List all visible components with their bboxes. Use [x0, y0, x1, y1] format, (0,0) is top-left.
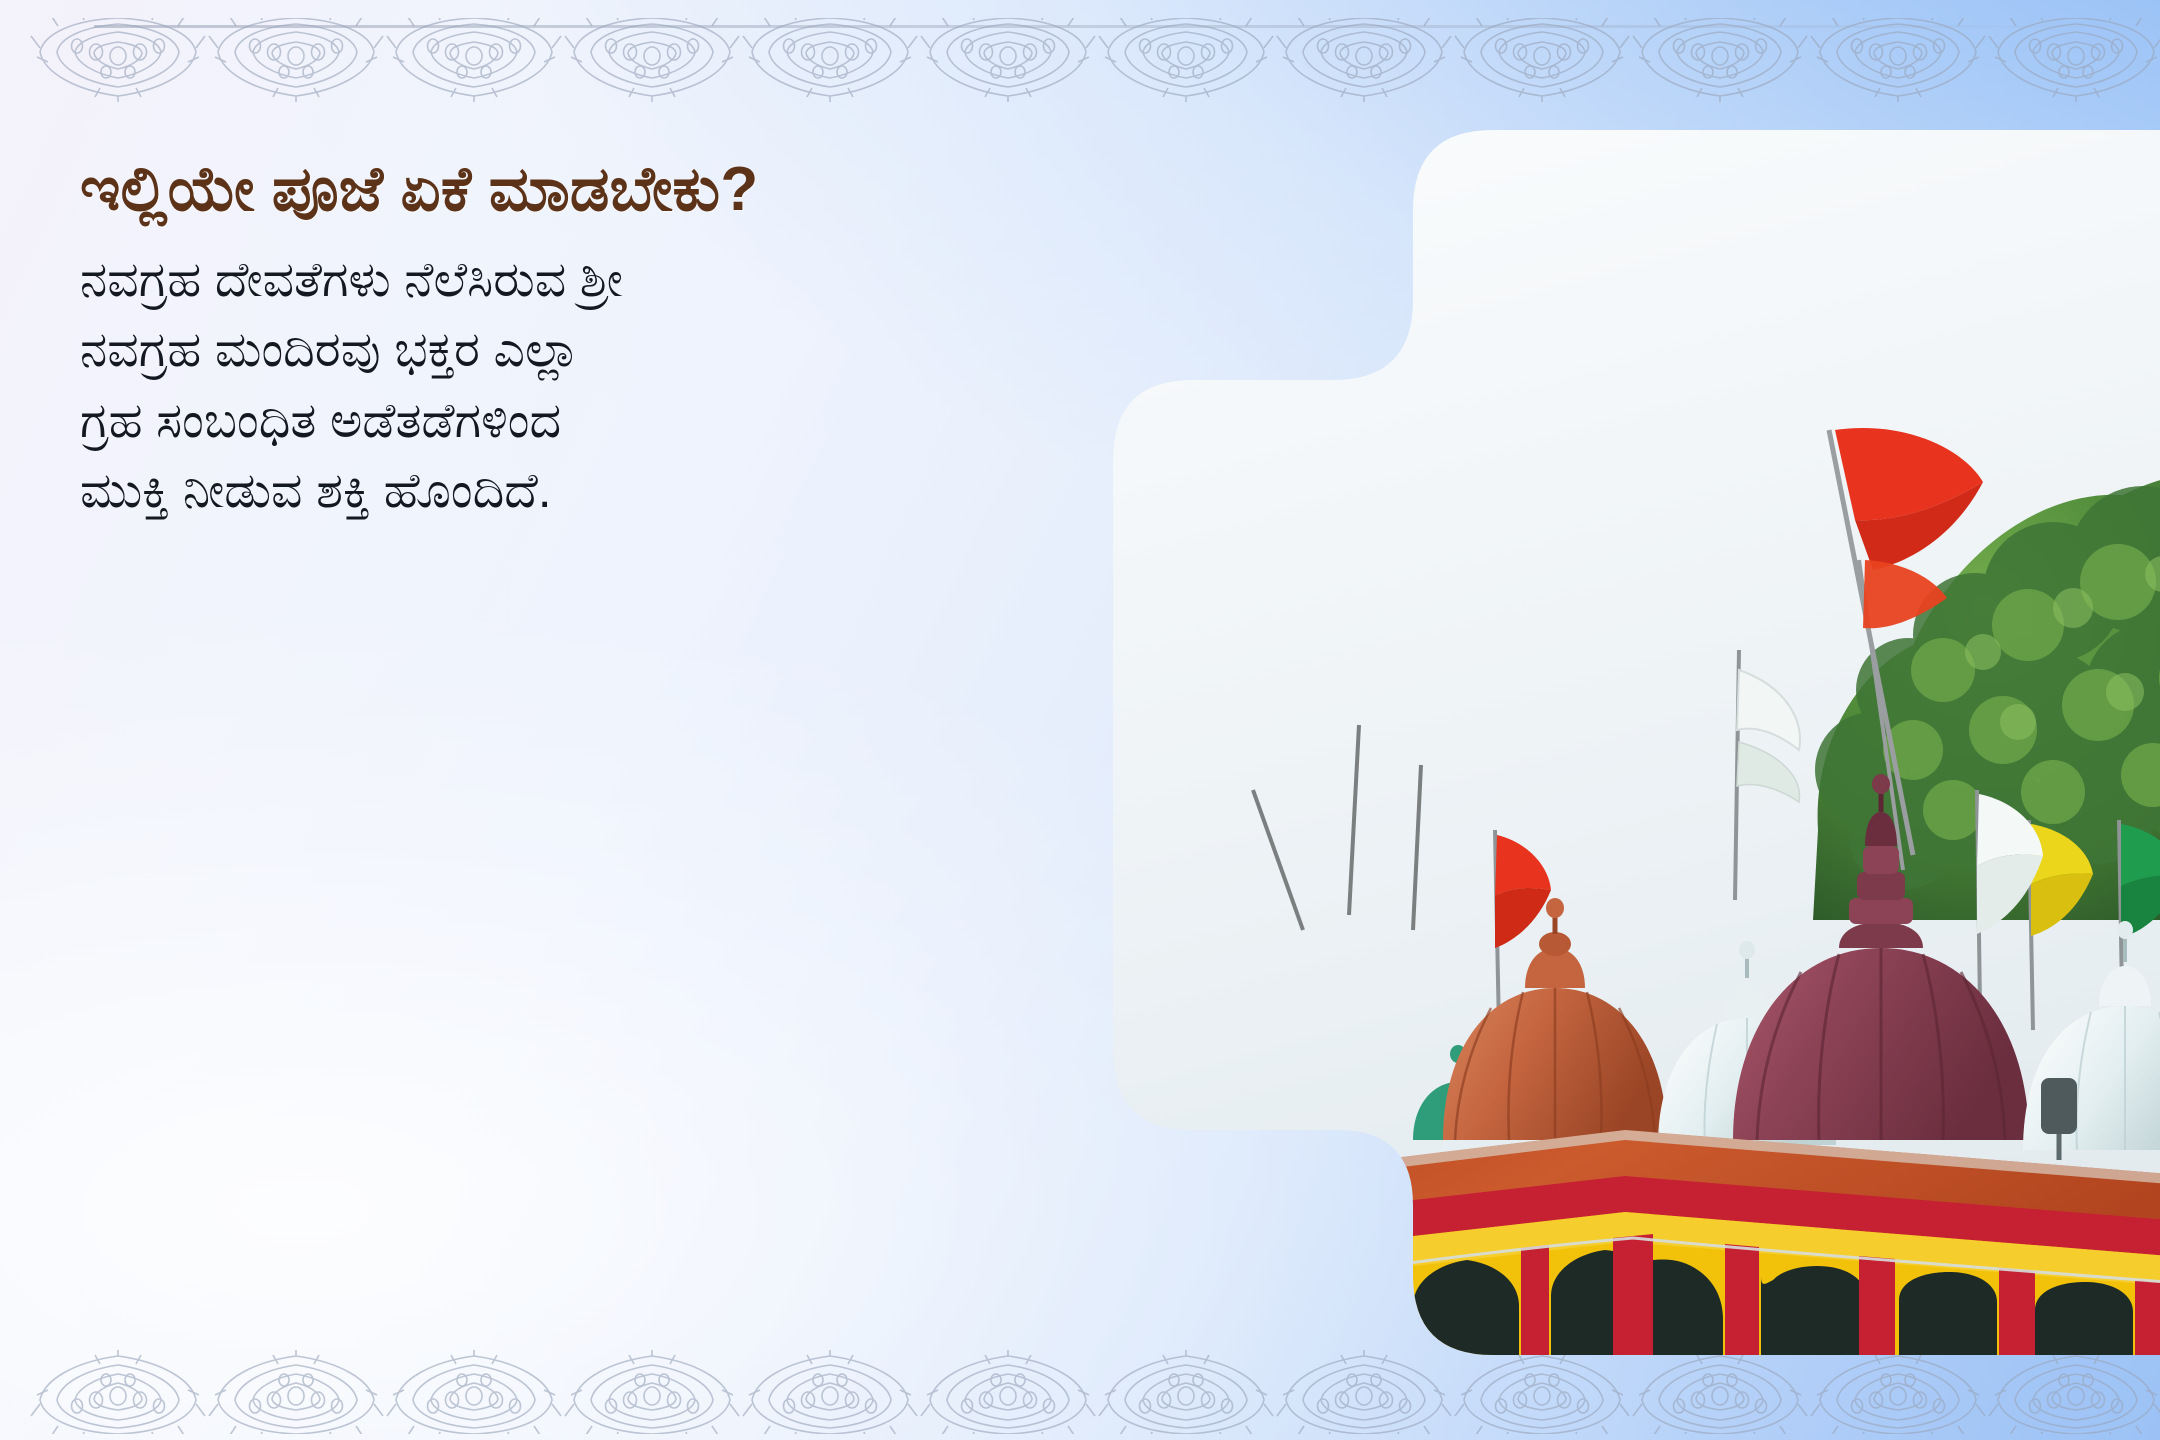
text-column: ಇಲ್ಲಿಯೇ ಪೂಜೆ ಏಕೆ ಮಾಡಬೇಕು? ನವಗ್ರಹ ದೇವತೆಗಳ…: [80, 150, 1020, 527]
mandala-lace-border-top: [0, 18, 2160, 102]
body-paragraph: ನವಗ್ರಹ ದೇವತೆಗಳು ನೆಲೆಸಿರುವ ಶ್ರೀ ನವಗ್ರಹ ಮಂ…: [80, 245, 1020, 527]
top-hairline-rule: [94, 25, 2160, 28]
body-line-1: ನವಗ್ರಹ ದೇವತೆಗಳು ನೆಲೆಸಿರುವ ಶ್ರೀ: [80, 245, 1020, 316]
mandala-lace-border-bottom: [0, 1350, 2160, 1434]
page-title: ಇಲ್ಲಿಯೇ ಪೂಜೆ ಏಕೆ ಮಾಡಬೇಕು?: [80, 150, 1020, 231]
body-line-2: ನವಗ್ರಹ ಮಂದಿರವು ಭಕ್ತರ ಎಲ್ಲಾ: [80, 315, 1020, 386]
poster-canvas: ಇಲ್ಲಿಯೇ ಪೂಜೆ ಏಕೆ ಮಾಡಬೇಕು? ನವಗ್ರಹ ದೇವತೆಗಳ…: [0, 0, 2160, 1440]
body-line-4: ಮುಕ್ತಿ ನೀಡುವ ಶಕ್ತಿ ಹೊಂದಿದೆ.: [80, 456, 1020, 527]
navagraha-temple-photo: [1113, 130, 2160, 1355]
body-line-3: ಗ್ರಹ ಸಂಬಂಧಿತ ಅಡೆತಡೆಗಳಿಂದ: [80, 386, 1020, 457]
